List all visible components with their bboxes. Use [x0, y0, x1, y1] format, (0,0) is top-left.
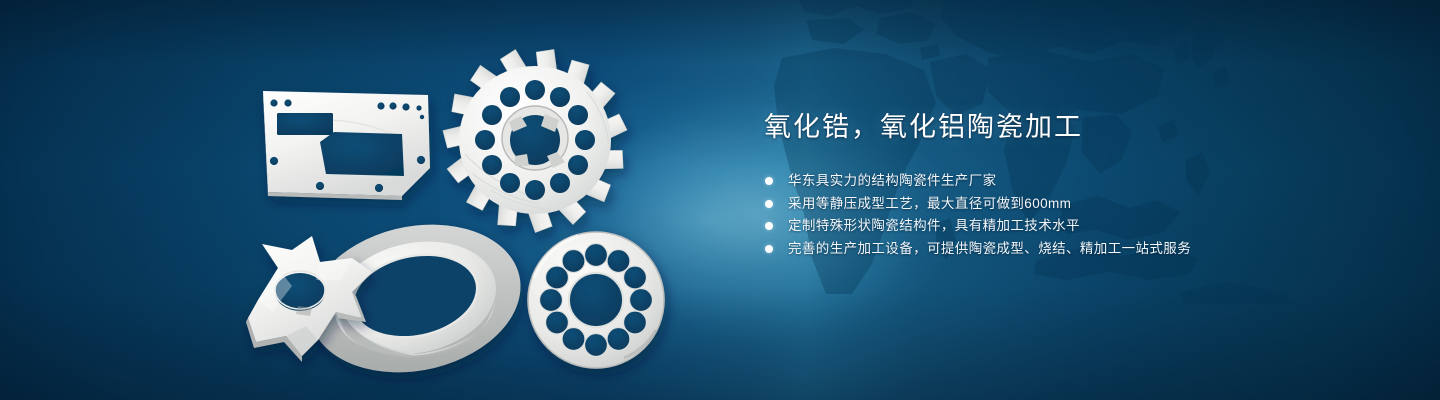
bullet-circle-icon: [765, 245, 773, 253]
banner-copy: 氧化锆，氧化铝陶瓷加工 华东具实力的结构陶瓷件生产厂家 采用等静压成型工艺，最大…: [764, 110, 1384, 260]
feature-list: 华东具实力的结构陶瓷件生产厂家 采用等静压成型工艺，最大直径可做到600mm 定…: [764, 170, 1384, 260]
list-item: 定制特殊形状陶瓷结构件，具有精加工技术水平: [764, 215, 1384, 238]
product-photo-cluster: [0, 0, 720, 400]
bullet-circle-icon: [765, 222, 773, 230]
ceramic-perforated-disc: [528, 232, 664, 368]
list-item: 华东具实力的结构陶瓷件生产厂家: [764, 170, 1384, 193]
hero-banner: 氧化锆，氧化铝陶瓷加工 华东具实力的结构陶瓷件生产厂家 采用等静压成型工艺，最大…: [0, 0, 1440, 400]
list-item-label: 华东具实力的结构陶瓷件生产厂家: [788, 173, 997, 188]
bullet-circle-icon: [765, 200, 773, 208]
list-item-label: 定制特殊形状陶瓷结构件，具有精加工技术水平: [788, 218, 1080, 233]
page-title: 氧化锆，氧化铝陶瓷加工: [764, 110, 1384, 144]
list-item: 完善的生产加工设备，可提供陶瓷成型、烧结、精加工一站式服务: [764, 238, 1384, 261]
list-item-label: 采用等静压成型工艺，最大直径可做到600mm: [788, 196, 1071, 211]
list-item-label: 完善的生产加工设备，可提供陶瓷成型、烧结、精加工一站式服务: [788, 241, 1191, 256]
list-item: 采用等静压成型工艺，最大直径可做到600mm: [764, 193, 1384, 216]
ceramic-mounting-plate: [263, 91, 430, 200]
ceramic-vane-impeller: [440, 44, 630, 234]
bullet-circle-icon: [765, 177, 773, 185]
